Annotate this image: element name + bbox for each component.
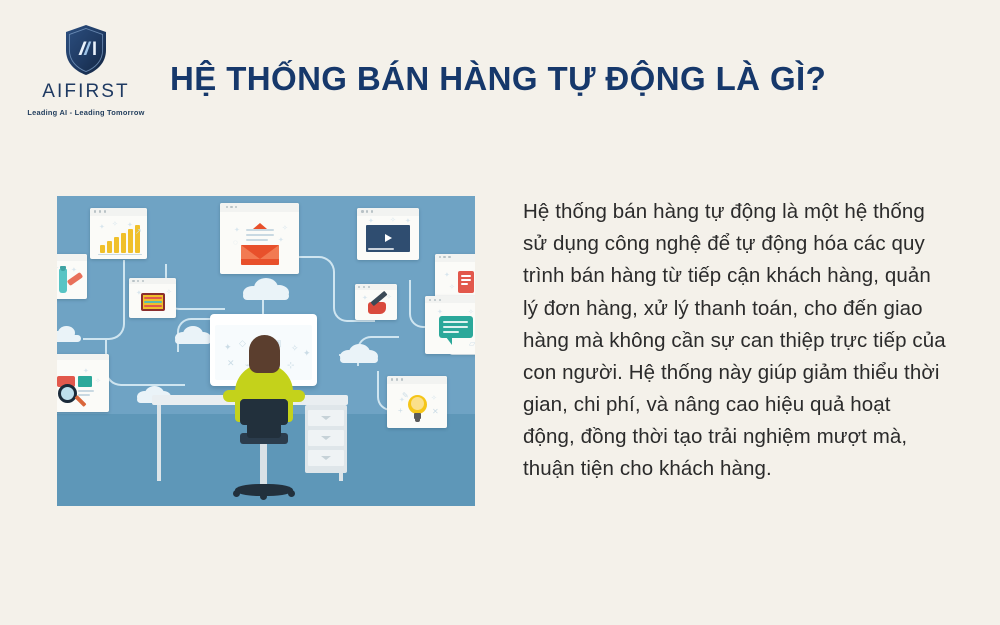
chat-card[interactable]: ✦ ✧ ▱ <box>425 296 475 354</box>
body-paragraph: Hệ thống bán hàng tự động là một hệ thốn… <box>523 196 948 486</box>
desk-drawer-unit[interactable] <box>305 405 347 473</box>
cloud-far-left <box>57 326 81 342</box>
brand-tagline: Leading AI - Leading Tomorrow <box>18 108 154 117</box>
person-seat-area <box>240 399 288 425</box>
cloud-right <box>340 344 378 363</box>
lab-flask-card[interactable]: ✦ ✧ <box>57 254 87 299</box>
idea-bulb-card[interactable]: ✦ ✧ + ✕ ✎ <box>387 376 447 428</box>
wire-4 <box>105 338 185 386</box>
desk-leg-left <box>157 405 161 481</box>
video-card[interactable]: ✦ ✧ ✦ <box>357 208 419 260</box>
growth-chart-card[interactable]: ✦ ✧ ✦ ↗ <box>90 208 147 259</box>
tv-media-card[interactable]: ✦ ✧ <box>129 278 176 318</box>
drawer-top[interactable] <box>308 410 344 426</box>
chair-wheel-center <box>260 493 267 500</box>
shield-ai-logo-icon <box>64 24 108 76</box>
wire-3 <box>83 260 125 340</box>
red-document-card[interactable]: ✦ ✧ <box>435 254 475 302</box>
person-arm-left <box>223 390 243 402</box>
email-card[interactable]: ✦ ✧ ✦ ◌ <box>220 203 299 274</box>
design-palette-card[interactable]: ✦ ✧ <box>355 284 397 320</box>
person-head <box>249 335 280 373</box>
page-title: HỆ THỐNG BÁN HÀNG TỰ ĐỘNG LÀ GÌ? <box>170 58 870 99</box>
chair-wheel-left <box>233 490 240 497</box>
person-arm-right <box>285 390 305 402</box>
chair-wheel-right <box>288 490 295 497</box>
cloud-top <box>243 278 289 300</box>
drawer-bottom[interactable] <box>308 450 344 466</box>
page-content: ✦ ✧ ✦ ↗ ✦ ✧ ✦ ◌ ✦ <box>0 150 1000 625</box>
drawer-middle[interactable] <box>308 430 344 446</box>
page-header: AIFIRST Leading AI - Leading Tomorrow HỆ… <box>0 0 1000 150</box>
cloud-left <box>175 326 211 344</box>
search-card[interactable]: ✦ ✧ <box>57 354 109 412</box>
hero-illustration: ✦ ✧ ✦ ↗ ✦ ✧ ✦ ◌ ✦ <box>57 196 475 506</box>
brand-wordmark: AIFIRST <box>18 82 154 101</box>
brand-logo: AIFIRST Leading AI - Leading Tomorrow <box>18 24 154 117</box>
